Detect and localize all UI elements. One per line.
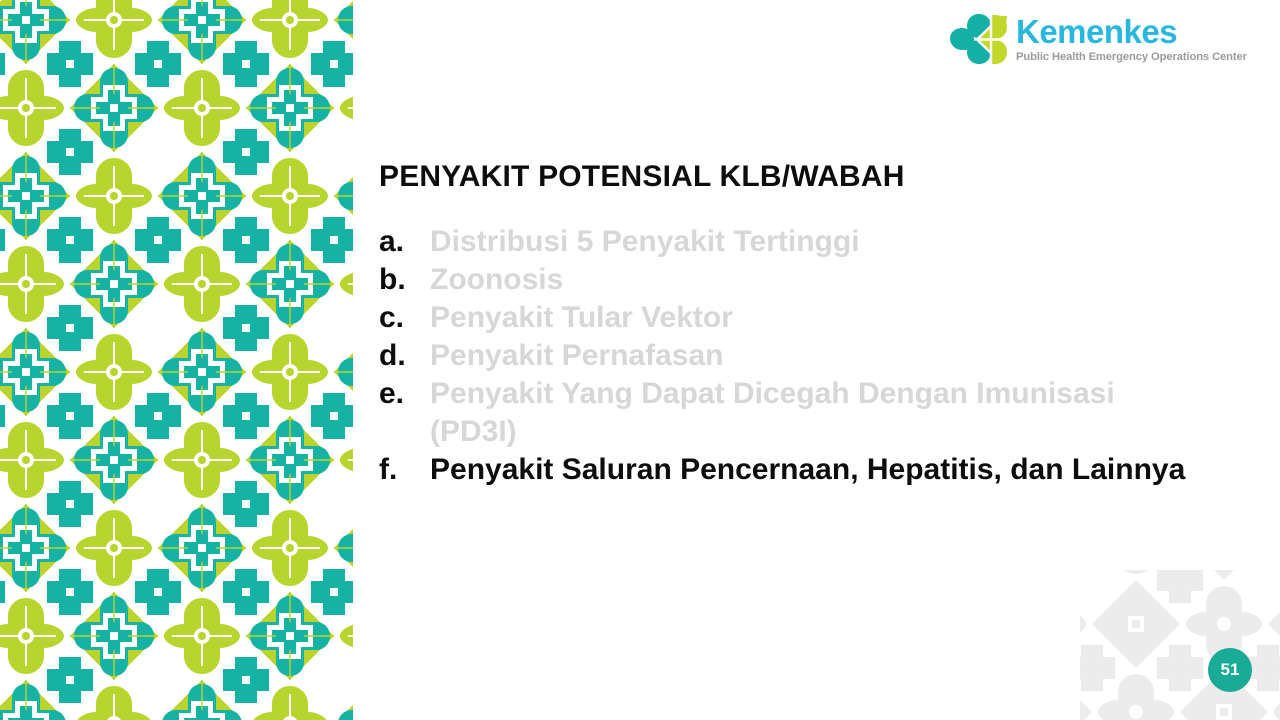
list-item-marker: f. xyxy=(379,451,430,489)
logo-wordmark: Kemenkes xyxy=(1016,15,1247,50)
list-item-label: Penyakit Yang Dapat Dicegah Dengan Imuni… xyxy=(430,375,1209,451)
list-item[interactable]: d. Penyakit Pernafasan xyxy=(379,337,1209,375)
list-item-marker: b. xyxy=(379,261,430,299)
list-item-marker: a. xyxy=(379,223,430,261)
list-item[interactable]: a. Distribusi 5 Penyakit Tertinggi xyxy=(379,223,1209,261)
list-item-marker: d. xyxy=(379,337,430,375)
list-item[interactable]: e. Penyakit Yang Dapat Dicegah Dengan Im… xyxy=(379,375,1209,451)
logo-tagline: Public Health Emergency Operations Cente… xyxy=(1016,52,1247,63)
list-item-marker: c. xyxy=(379,299,430,337)
agenda-list: a. Distribusi 5 Penyakit Tertinggi b. Zo… xyxy=(379,223,1209,490)
list-item-label: Penyakit Saluran Pencernaan, Hepatitis, … xyxy=(430,451,1209,489)
list-item-label: Penyakit Pernafasan xyxy=(430,337,1209,375)
list-item[interactable]: b. Zoonosis xyxy=(379,261,1209,299)
list-item[interactable]: c. Penyakit Tular Vektor xyxy=(379,299,1209,337)
page-title: PENYAKIT POTENSIAL KLB/WABAH xyxy=(379,160,1209,195)
list-item-marker: e. xyxy=(379,375,430,413)
list-item[interactable]: f. Penyakit Saluran Pencernaan, Hepatiti… xyxy=(379,451,1209,489)
list-item-label: Penyakit Tular Vektor xyxy=(430,299,1209,337)
corner-watermark xyxy=(1080,570,1280,720)
decorative-pattern-band xyxy=(0,0,353,720)
list-item-label: Distribusi 5 Penyakit Tertinggi xyxy=(430,223,1209,261)
slide-content: PENYAKIT POTENSIAL KLB/WABAH a. Distribu… xyxy=(379,160,1209,489)
kemenkes-clover-k-logo-icon xyxy=(950,10,1008,68)
list-item-label: Zoonosis xyxy=(430,261,1209,299)
page-number-badge: 51 xyxy=(1208,648,1252,692)
slide-canvas: Kemenkes Public Health Emergency Operati… xyxy=(0,0,1280,720)
kemenkes-logo: Kemenkes Public Health Emergency Operati… xyxy=(950,6,1240,72)
